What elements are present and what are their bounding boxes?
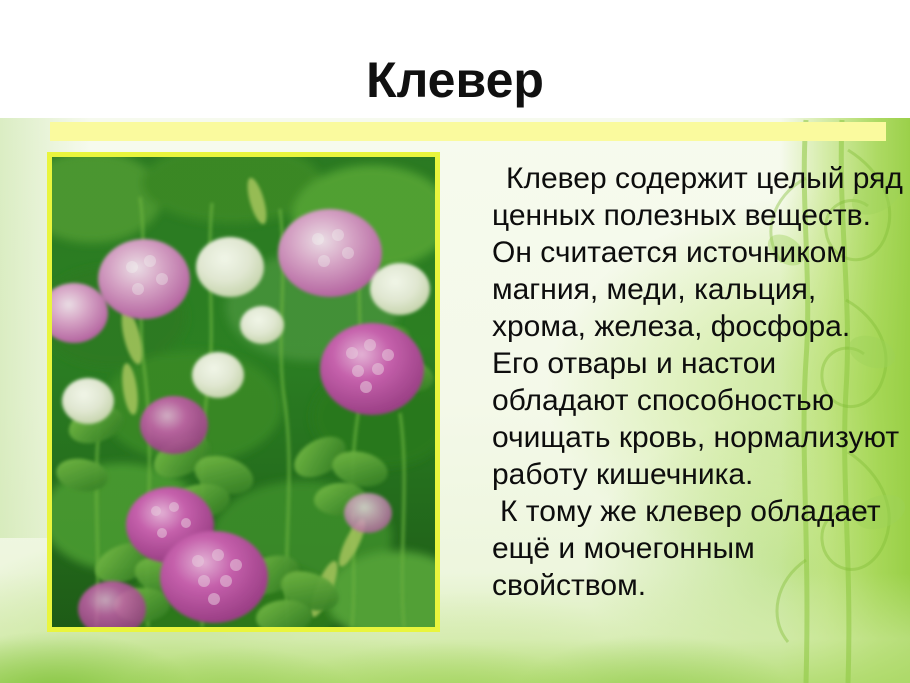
paragraph-2: Его отвары и настои обладают способность…: [492, 345, 904, 493]
yellow-accent-band: [50, 122, 886, 141]
paragraph-1: Клевер содержит целый ряд ценных полезны…: [492, 160, 904, 345]
paragraph-3: К тому же клевер обладает ещё и мочегонн…: [492, 493, 904, 604]
slide: Клевер: [0, 0, 910, 683]
body-text: Клевер содержит целый ряд ценных полезны…: [492, 160, 904, 604]
clover-photo-artwork: [52, 157, 435, 627]
page-title: Клевер: [0, 52, 910, 108]
clover-photo: [47, 152, 440, 632]
